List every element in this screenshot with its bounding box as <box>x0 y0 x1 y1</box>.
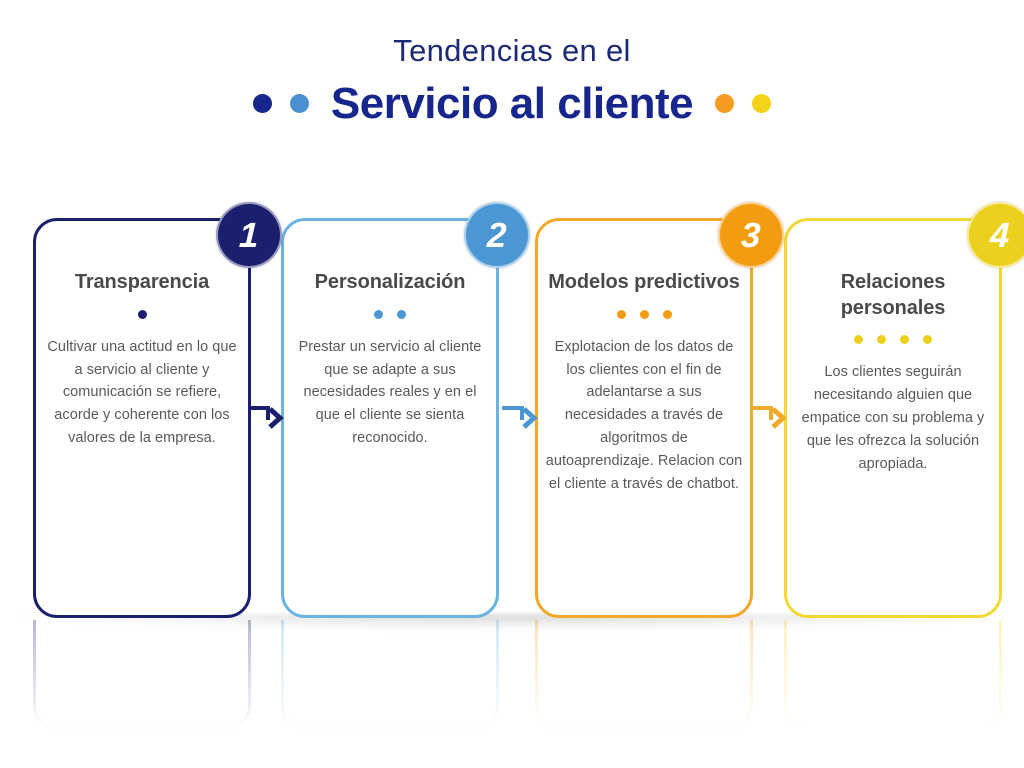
step-card-4-dot-4-icon <box>923 335 932 344</box>
step-badge-1: 1 <box>216 202 282 268</box>
step-card-1-title: Transparencia <box>43 270 241 296</box>
step-card-1-description: Cultivar una actitud en lo que a servici… <box>43 336 241 451</box>
header-dots-right <box>715 94 771 113</box>
step-card-4-dot-2-icon <box>877 335 886 344</box>
step-card-1[interactable]: 1 Transparencia Cultivar una actitud en … <box>33 218 251 618</box>
card-reflections <box>0 620 1024 740</box>
step-card-3-dot-3-icon <box>663 310 672 319</box>
step-card-2-dots <box>291 310 489 319</box>
step-badge-4-number: 4 <box>990 218 1011 253</box>
step-card-4-title: Relaciones personales <box>794 270 992 321</box>
step-card-2-description: Prestar un servicio al cliente que se ad… <box>291 336 489 451</box>
step-card-1-dot-1-icon <box>138 310 147 319</box>
arrow-step1-to-step2-icon <box>246 398 292 434</box>
step-card-4-dot-3-icon <box>900 335 909 344</box>
step-card-2-dot-1-icon <box>374 310 383 319</box>
step-card-3[interactable]: 3 Modelos predictivos Explotacion de los… <box>535 218 753 618</box>
step-badge-3: 3 <box>718 202 784 268</box>
infographic-canvas: Tendencias en el Servicio al cliente 1 <box>0 0 1024 768</box>
arrow-step3-to-step4-icon <box>749 398 795 434</box>
step-card-4[interactable]: 4 Relaciones personales Los clientes seg… <box>784 218 1002 618</box>
step-badge-2-number: 2 <box>487 218 508 253</box>
step-card-3-title: Modelos predictivos <box>545 270 743 296</box>
step-card-3-dot-1-icon <box>617 310 626 319</box>
step-card-2-content: Personalización Prestar un servicio al c… <box>285 270 495 450</box>
step-badge-3-number: 3 <box>741 218 762 253</box>
step-card-4-dot-1-icon <box>854 335 863 344</box>
header-dots-left <box>253 94 309 113</box>
step-card-4-description: Los clientes seguirán necesitando alguie… <box>794 361 992 476</box>
step-badge-1-number: 1 <box>239 218 260 253</box>
step-card-2-dot-2-icon <box>397 310 406 319</box>
header-dot-yellow-icon <box>752 94 771 113</box>
step-card-4-content: Relaciones personales Los clientes segui… <box>788 270 998 476</box>
page-title: Servicio al cliente <box>309 79 715 129</box>
step-card-2[interactable]: 2 Personalización Prestar un servicio al… <box>281 218 499 618</box>
header-dot-orange-icon <box>715 94 734 113</box>
step-card-3-dots <box>545 310 743 319</box>
step-card-3-dot-2-icon <box>640 310 649 319</box>
header-dot-navy-icon <box>253 94 272 113</box>
step-card-3-content: Modelos predictivos Explotacion de los d… <box>539 270 749 496</box>
header-dot-blue-icon <box>290 94 309 113</box>
step-card-2-title: Personalización <box>291 270 489 296</box>
step-card-1-dots <box>43 310 241 319</box>
step-card-1-content: Transparencia Cultivar una actitud en lo… <box>37 270 247 450</box>
header: Tendencias en el Servicio al cliente <box>0 32 1024 129</box>
step-card-3-description: Explotacion de los datos de los clientes… <box>545 336 743 496</box>
step-badge-4: 4 <box>967 202 1024 268</box>
arrow-step2-to-step3-icon <box>500 398 546 434</box>
step-card-4-dots <box>794 335 992 344</box>
step-badge-2: 2 <box>464 202 530 268</box>
header-title-row: Servicio al cliente <box>0 79 1024 129</box>
header-subtitle: Tendencias en el <box>0 32 1024 71</box>
